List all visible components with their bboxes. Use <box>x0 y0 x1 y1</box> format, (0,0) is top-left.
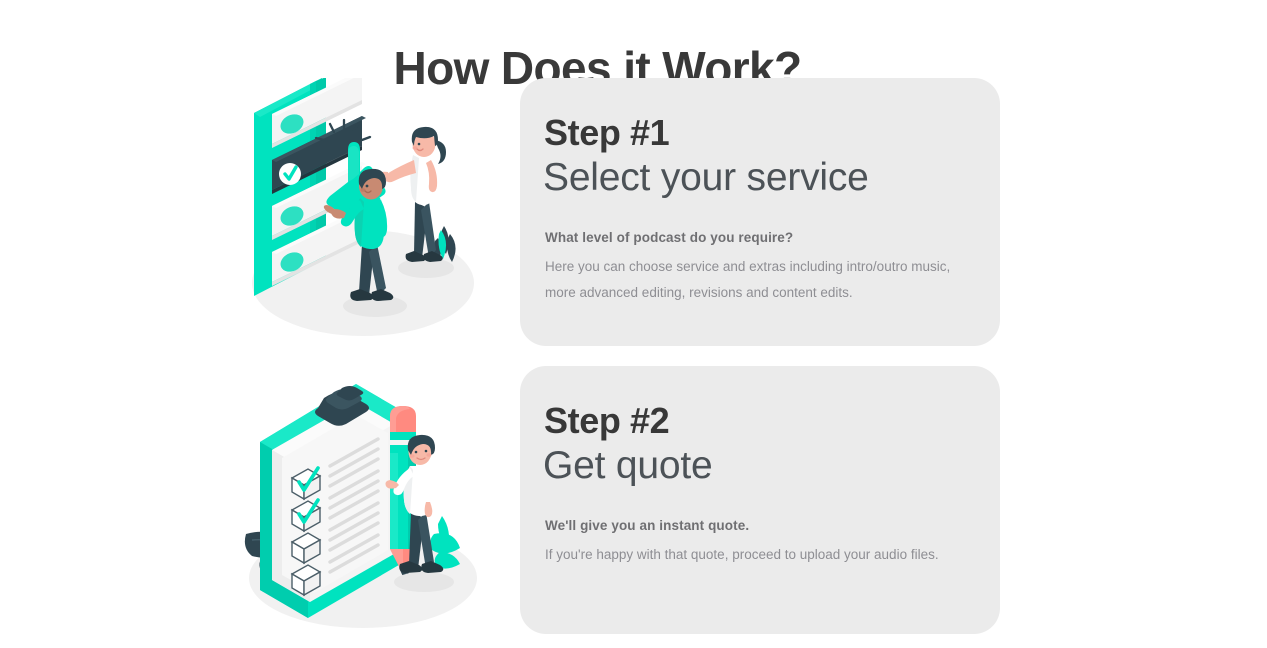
select-service-illustration <box>238 78 488 346</box>
step-2-body: If you're happy with that quote, proceed… <box>545 542 960 568</box>
step-1-card: Step #1 Select your service What level o… <box>520 78 1000 346</box>
step-2-headline: Get quote <box>543 442 960 490</box>
step-1-label: Step #1 <box>544 112 960 154</box>
step-1-headline: Select your service <box>543 154 960 202</box>
step-1-body: Here you can choose service and extras i… <box>545 254 960 306</box>
step-2-card: Step #2 Get quote We'll give you an inst… <box>520 366 1000 634</box>
how-it-works-section: How Does it Work? <box>0 0 1267 648</box>
step-2-label: Step #2 <box>544 400 960 442</box>
step-2-question: We'll give you an instant quote. <box>545 518 960 533</box>
step-1-question: What level of podcast do you require? <box>545 230 960 245</box>
get-quote-illustration <box>238 366 488 634</box>
